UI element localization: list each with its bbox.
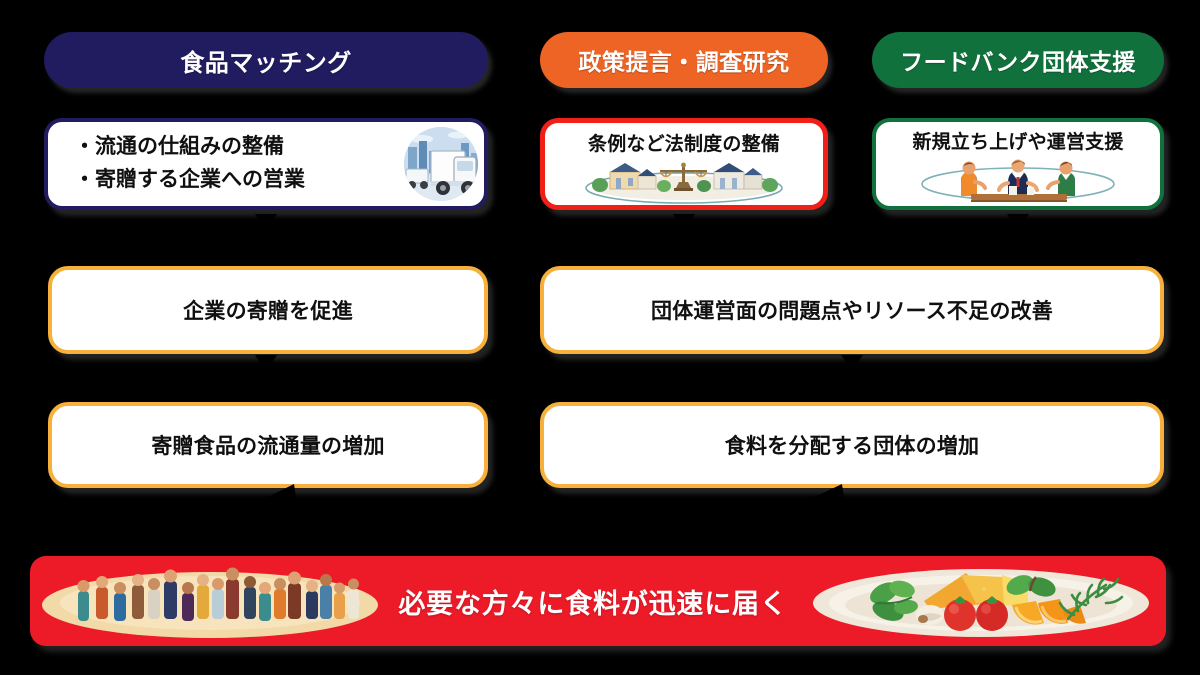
column-header-label: 食品マッチング (180, 43, 351, 78)
outcome-card-right[interactable]: 団体運営面の問題点やリソース不足の改善 (540, 266, 1164, 354)
arrow-outcome-to-impact-left (255, 355, 277, 371)
impact-card-left[interactable]: 寄贈食品の流通量の増加 (48, 402, 488, 488)
column-header-foodbank-support[interactable]: フードバンク団体支援 (872, 32, 1164, 88)
activity-bullet-item: ・寄贈する企業への営業 (74, 164, 398, 197)
activity-bullet-item: ・流通の仕組みの整備 (74, 131, 398, 164)
scales-of-justice-icon (576, 158, 792, 204)
activity-card-title: 新規立ち上げや運営支援 (876, 124, 1160, 154)
meeting-icon (909, 156, 1127, 204)
outcome-card-title: 団体運営面の問題点やリソース不足の改善 (544, 295, 1160, 325)
activity-card-policy-research[interactable]: 条例など法制度の整備 (540, 118, 828, 210)
diagram-canvas: 食品マッチング 政策提言・調査研究 フードバンク団体支援 ・流通の仕組みの整備 … (0, 0, 1200, 675)
activity-card-food-matching[interactable]: ・流通の仕組みの整備 ・寄贈する企業への営業 (44, 118, 488, 210)
column-header-food-matching[interactable]: 食品マッチング (44, 32, 488, 88)
column-header-policy-research[interactable]: 政策提言・調査研究 (540, 32, 828, 88)
arrow-impact-left-to-goal (250, 484, 310, 508)
arrow-outcome-to-impact-right (841, 355, 863, 371)
arrow-activity-to-outcome-middle (673, 214, 695, 230)
outcome-card-title: 企業の寄贈を促進 (52, 295, 484, 325)
plate-of-food-icon (806, 559, 1156, 643)
arrow-activity-to-outcome-right (1007, 214, 1029, 230)
impact-card-title: 食料を分配する団体の増加 (544, 430, 1160, 460)
activity-bullet-list: ・流通の仕組みの整備 ・寄贈する企業への営業 (48, 131, 398, 196)
impact-card-title: 寄贈食品の流通量の増加 (52, 430, 484, 460)
arrow-activity-to-outcome-left (255, 214, 277, 230)
impact-card-right[interactable]: 食料を分配する団体の増加 (540, 402, 1164, 488)
outcome-card-left[interactable]: 企業の寄贈を促進 (48, 266, 488, 354)
column-header-label: フードバンク団体支援 (900, 43, 1136, 77)
column-header-label: 政策提言・調査研究 (578, 43, 789, 77)
final-goal-banner[interactable]: 必要な方々に食料が迅速に届く (30, 556, 1166, 646)
arrow-impact-right-to-goal (800, 484, 860, 508)
activity-card-title: 条例など法制度の整備 (545, 125, 823, 156)
crowd-of-people-icon (40, 559, 380, 643)
final-goal-label: 必要な方々に食料が迅速に届く (398, 582, 787, 621)
truck-icon (398, 123, 484, 205)
activity-card-foodbank-support[interactable]: 新規立ち上げや運営支援 (872, 118, 1164, 210)
